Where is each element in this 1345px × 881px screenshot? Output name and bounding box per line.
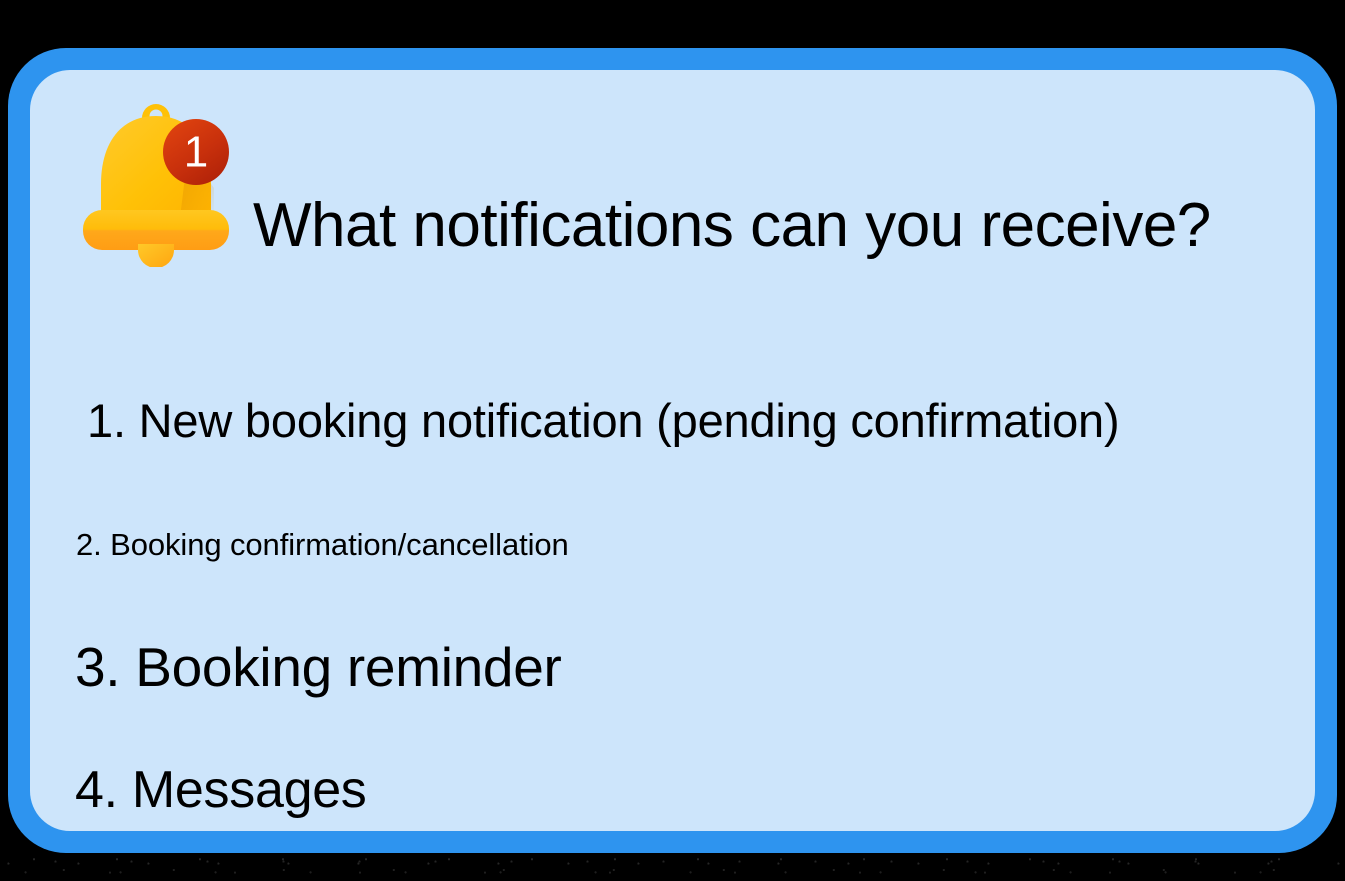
list-item: 4. Messages xyxy=(75,764,367,816)
list-item: 1. New booking notification (pending con… xyxy=(87,397,1119,444)
list-item: 2. Booking confirmation/cancellation xyxy=(76,529,569,560)
page-title: What notifications can you receive? xyxy=(253,195,1211,257)
notification-card: 1 What notifications can you receive? 1.… xyxy=(30,70,1315,831)
background-noise-artifact xyxy=(0,852,1345,881)
bell-notification-icon: 1 xyxy=(76,92,236,267)
slide-canvas: 1 What notifications can you receive? 1.… xyxy=(0,0,1345,881)
svg-text:1: 1 xyxy=(184,128,208,177)
list-item: 3. Booking reminder xyxy=(75,640,562,695)
notification-card-border: 1 What notifications can you receive? 1.… xyxy=(8,48,1337,853)
card-header: 1 What notifications can you receive? xyxy=(30,70,1315,320)
